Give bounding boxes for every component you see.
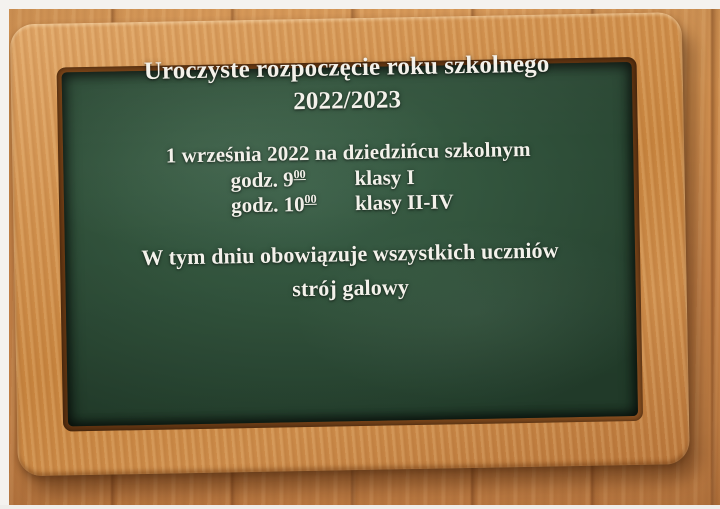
photo-edge-bottom (0, 505, 720, 509)
announcement-title-line-2: 2022/2023 (293, 84, 401, 118)
photo-edge-top (0, 0, 720, 9)
schedule-time-first-minutes: 00 (293, 167, 305, 181)
closing-line-2: strój galowy (292, 273, 409, 303)
schedule-time-second-hour: godz. 10 (231, 192, 305, 217)
date-and-place-line: 1 września 2022 na dziedzińcu szkolnym (165, 136, 530, 170)
photo-edge-left (0, 0, 9, 509)
schedule-classes-second: klasy II-IV (355, 189, 467, 216)
announcement-text-block: Uroczyste rozpoczęcie roku szkolnego 202… (10, 12, 690, 476)
schedule-time-second-minutes: 00 (304, 192, 316, 206)
schedule-classes-first: klasy I (354, 164, 466, 191)
announcement-title-line-1: Uroczyste rozpoczęcie roku szkolnego (144, 49, 550, 88)
wooden-frame: Uroczyste rozpoczęcie roku szkolnego 202… (10, 12, 690, 476)
schedule-time-first: godz. 900 (230, 167, 316, 194)
poster-image: Uroczyste rozpoczęcie roku szkolnego 202… (0, 0, 720, 509)
schedule-row-second: godz. 1000 klasy II-IV (231, 189, 467, 218)
schedule-time-second: godz. 1000 (231, 192, 317, 219)
chalkboard-assembly: Uroczyste rozpoczęcie roku szkolnego 202… (10, 12, 713, 497)
schedule-time-first-hour: godz. 9 (230, 167, 293, 192)
closing-line-1: W tym dniu obowiązuje wszystkich uczniów (141, 236, 559, 272)
